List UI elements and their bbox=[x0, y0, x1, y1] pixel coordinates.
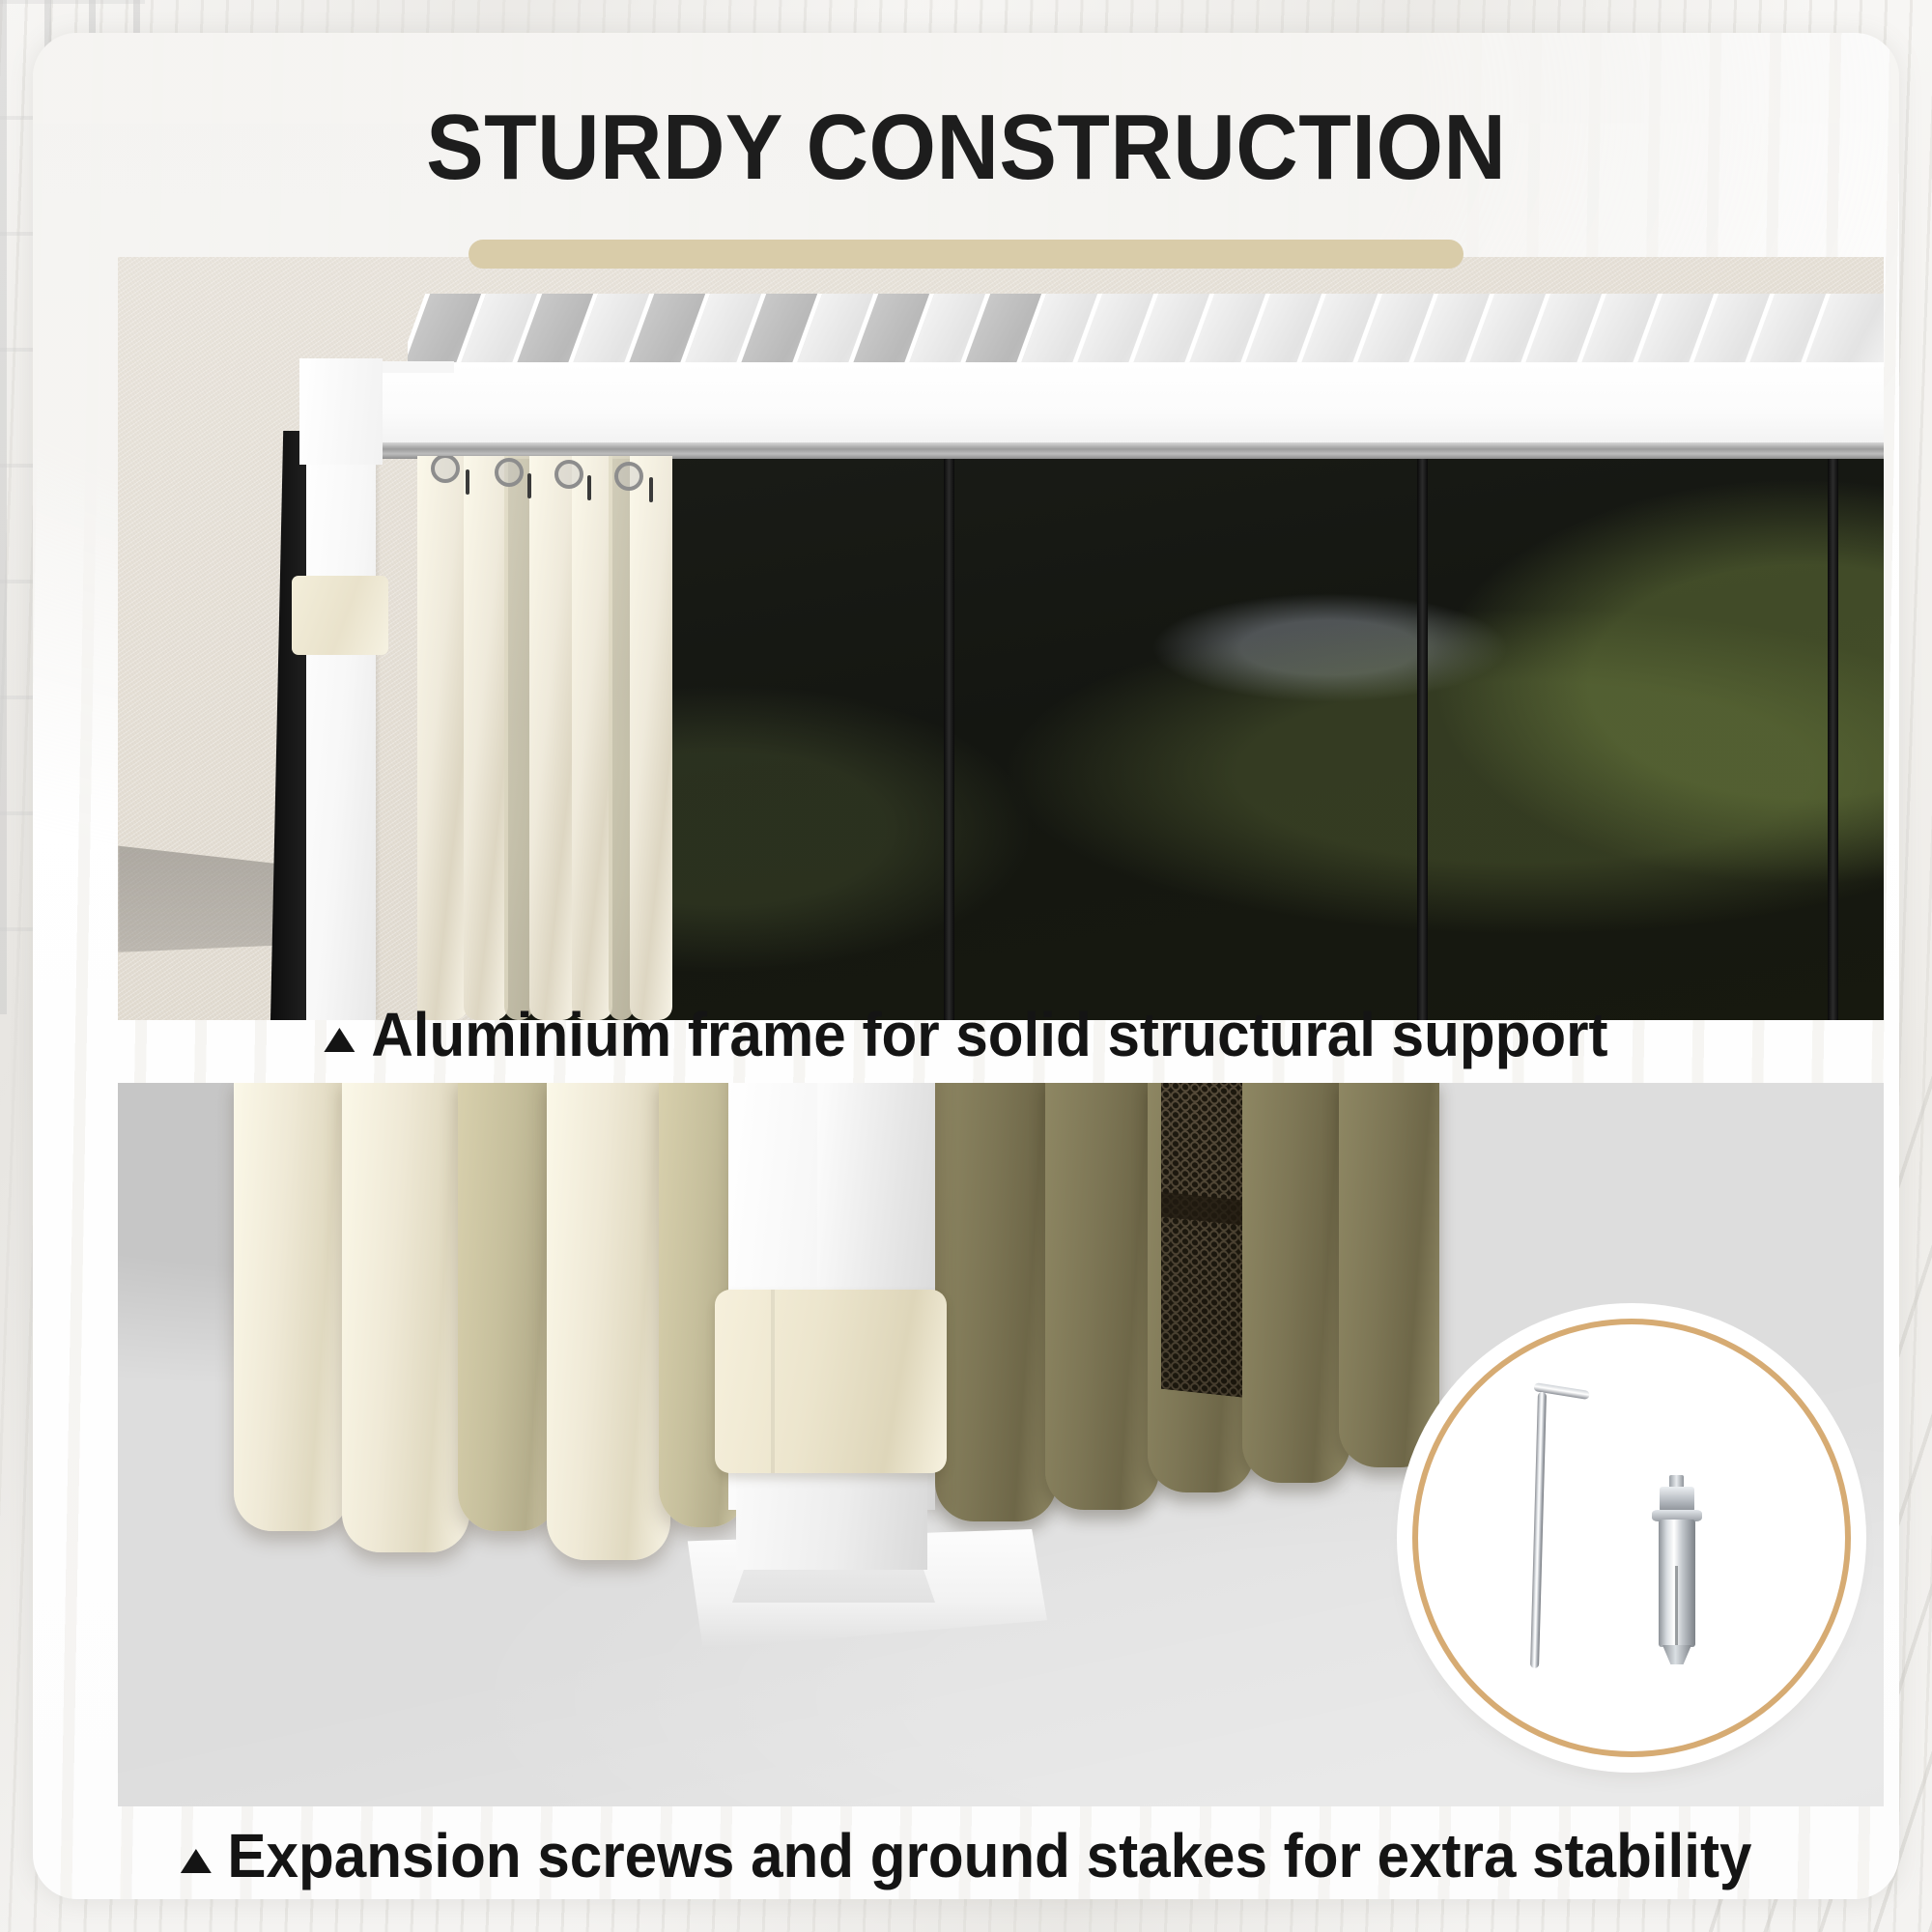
curtain-fold bbox=[458, 1083, 558, 1531]
curtain-fold bbox=[234, 1083, 350, 1531]
curtain-fold-dark bbox=[1045, 1083, 1159, 1510]
curtain-fold bbox=[342, 1083, 469, 1552]
curtain-fold-dark bbox=[935, 1083, 1057, 1521]
headline-block: STURDY CONSTRUCTION bbox=[33, 100, 1899, 195]
triangle-up-icon bbox=[181, 1849, 212, 1873]
glass-mullion bbox=[944, 456, 954, 1020]
headline-highlight-bar bbox=[469, 240, 1463, 269]
curtain-panel-top bbox=[408, 456, 697, 1020]
curtain-fold-dark bbox=[1242, 1083, 1350, 1483]
page-title: STURDY CONSTRUCTION bbox=[426, 100, 1506, 195]
photo-expansion-screws bbox=[118, 1083, 1884, 1806]
caption-text: Expansion screws and ground stakes for e… bbox=[227, 1821, 1751, 1890]
curtain-fold bbox=[547, 1083, 670, 1560]
aluminium-beam bbox=[338, 363, 1884, 446]
post-tieback-wrap bbox=[292, 576, 388, 655]
photo-aluminium-frame bbox=[118, 257, 1884, 1020]
feature-card: STURDY CONSTRUCTION bbox=[33, 33, 1899, 1899]
hardware-detail-circle bbox=[1424, 1330, 1839, 1746]
expansion-anchor-bolt-icon bbox=[1644, 1475, 1708, 1668]
post-fabric-wrap bbox=[715, 1290, 947, 1473]
caption-aluminium-frame: Aluminium frame for solid structural sup… bbox=[89, 999, 1843, 1070]
ground-stake-icon bbox=[1509, 1377, 1565, 1666]
curtain-fold-dark bbox=[1339, 1083, 1439, 1467]
glass-mullion bbox=[1828, 456, 1838, 1020]
triangle-up-icon bbox=[324, 1028, 355, 1052]
caption-expansion-screws: Expansion screws and ground stakes for e… bbox=[89, 1820, 1843, 1891]
glass-mullion bbox=[1417, 456, 1428, 1020]
product-feature-page: STURDY CONSTRUCTION bbox=[0, 0, 1932, 1932]
glass-panels bbox=[499, 456, 1884, 1020]
caption-text: Aluminium frame for solid structural sup… bbox=[371, 1000, 1607, 1069]
post-head bbox=[299, 358, 383, 465]
